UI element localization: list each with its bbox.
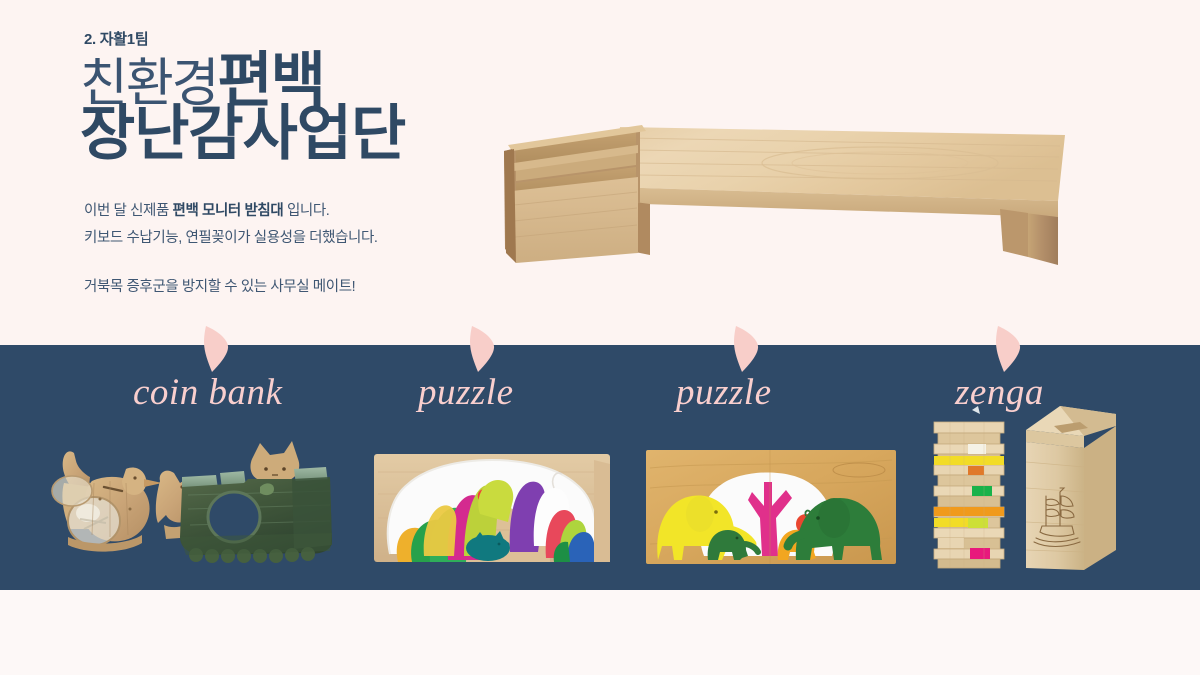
- hero-product-photo: [480, 105, 1080, 280]
- body-line-2: 키보드 수납기능, 연필꽂이가 실용성을 더했습니다.: [84, 225, 514, 252]
- body-spacer: [84, 252, 514, 274]
- product-photo-puzzle-elephant: [644, 448, 898, 566]
- product-photo-zenga: [928, 400, 1118, 575]
- product-label-puzzle-2: puzzle: [676, 371, 772, 414]
- pointer-marker-puzzle-2: [726, 326, 760, 372]
- product-label-zenga: zenga: [955, 371, 1044, 414]
- section-eyebrow: 2. 자활1팀: [84, 28, 148, 49]
- body-line-1-emphasis: 편백 모니터 받침대: [173, 203, 284, 219]
- body-line-1: 이번 달 신제품 편백 모니터 받침대 입니다.: [84, 198, 514, 225]
- pointer-marker-coin-bank: [196, 326, 230, 372]
- product-label-coin-bank: coin bank: [133, 371, 282, 414]
- title-second-line: 장난감사업단: [80, 100, 405, 167]
- footer-background: [0, 590, 1200, 675]
- body-line-1-suffix: 입니다.: [283, 203, 329, 219]
- body-line-1-prefix: 이번 달 신제품: [84, 203, 173, 219]
- product-photo-coin-bank: [30, 425, 340, 575]
- body-copy: 이번 달 신제품 편백 모니터 받침대 입니다. 키보드 수납기능, 연필꽂이가…: [84, 198, 514, 300]
- slide-canvas: 2. 자활1팀 친환경편백 장난감사업단 이번 달 신제품 편백 모니터 받침대…: [0, 0, 1200, 675]
- pointer-marker-puzzle-1: [462, 326, 496, 372]
- product-label-puzzle-1: puzzle: [418, 371, 514, 414]
- pointer-marker-zenga: [988, 326, 1022, 372]
- body-line-3: 거북목 증후군을 방지할 수 있는 사무실 메이트!: [84, 274, 514, 301]
- page-title: 친환경편백 장난감사업단: [80, 52, 540, 164]
- product-photo-puzzle-arch: [368, 448, 616, 566]
